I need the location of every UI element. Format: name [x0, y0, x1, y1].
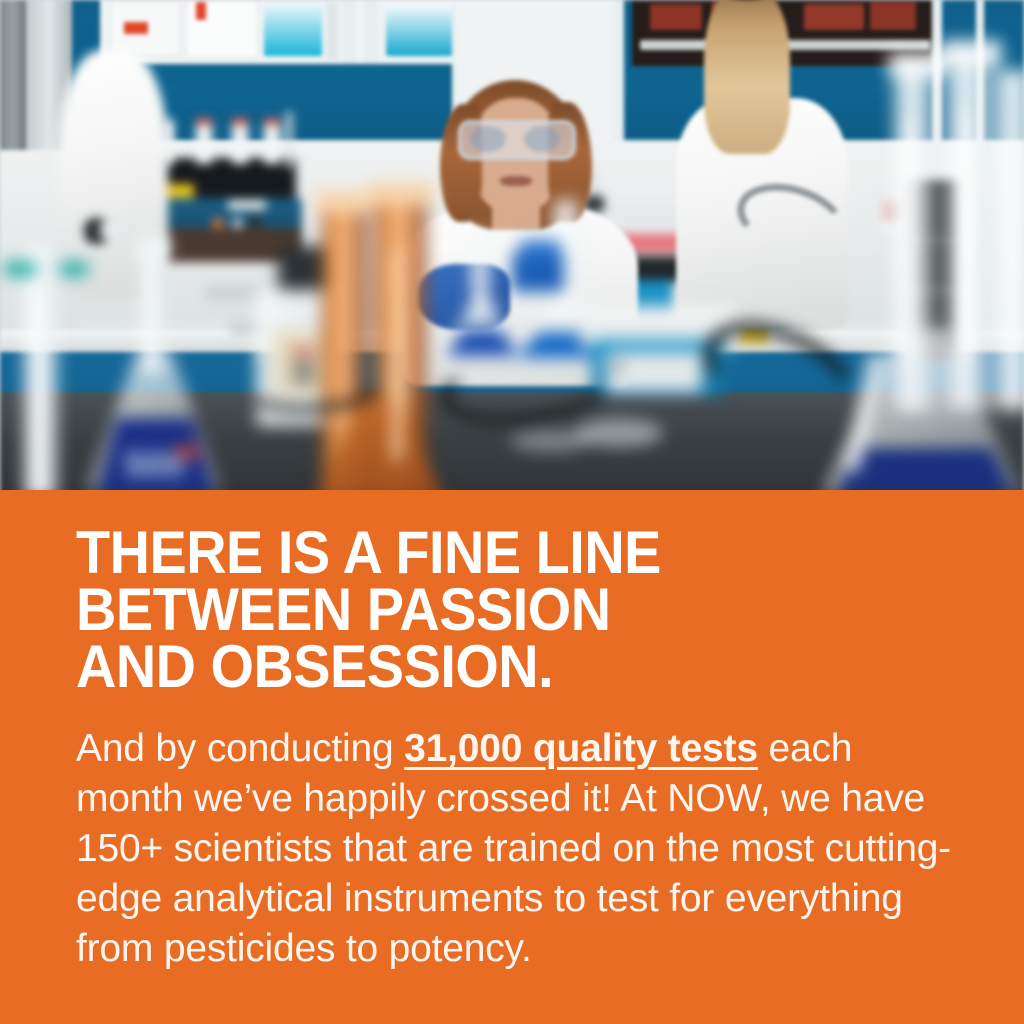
cylinder-highlight-2 [960, 110, 972, 360]
laboratory-photo: 500 [0, 0, 1024, 494]
flask-left-cap [136, 238, 170, 256]
cylinder-2-top [940, 40, 1002, 66]
amber-column-2-cap [366, 182, 434, 206]
glass-column-left2 [30, 300, 54, 494]
watch-glass [510, 430, 590, 452]
body-copy: And by conducting 31,000 quality tests e… [76, 724, 956, 974]
foreground-glassware: 500 [0, 0, 1024, 494]
reagent-bottle-cap [278, 246, 326, 290]
graduated-cylinder-3 [994, 70, 1024, 410]
amber-highlight [392, 250, 402, 460]
body-copy-part1: And by conducting [76, 727, 404, 770]
column-farleft-teal-band [4, 262, 36, 276]
cylinder-1-top [888, 52, 944, 78]
bench-small-blue-item-2 [520, 240, 560, 256]
page-title: THERE IS A FINE LINE BETWEEN PASSION AND… [76, 524, 913, 695]
cylinder-highlight-1 [904, 120, 914, 360]
bench-small-blue-item [512, 252, 564, 292]
amber-column-1-cap [314, 190, 374, 214]
flask-left-red-mark [176, 446, 198, 458]
quality-tests-highlight: 31,000 quality tests [404, 727, 758, 770]
promotional-poster: 500 [0, 0, 1024, 1024]
lab-balance-panel [606, 352, 702, 392]
column-farleft-teal-band-2 [60, 262, 88, 276]
orange-message-panel: THERE IS A FINE LINE BETWEEN PASSION AND… [0, 494, 1024, 1024]
